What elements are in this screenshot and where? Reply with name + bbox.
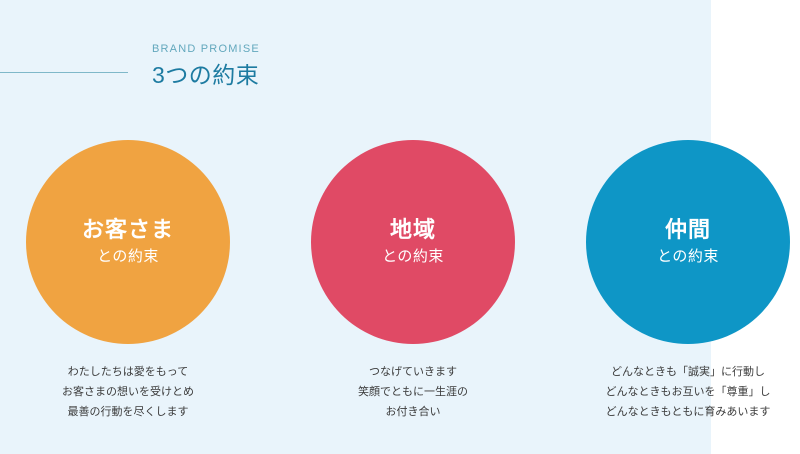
promise-subtitle: との約束 (382, 247, 444, 267)
promise-subtitle: との約束 (657, 247, 719, 267)
promise-subtitle: との約束 (97, 247, 159, 267)
header-rule (0, 72, 128, 73)
caption-line: どんなときも「誠実」に行動し (568, 362, 800, 382)
header-block: BRAND PROMISE 3つの約束 (152, 42, 572, 89)
promise-column-community: 地域 との約束 つなげていきます 笑顔でともに一生涯の お付き合い (293, 140, 533, 422)
promise-circle-colleagues: 仲間 との約束 (586, 140, 790, 344)
promise-caption-customer: わたしたちは愛をもって お客さまの想いを受けとめ 最善の行動を尽くします (8, 362, 248, 422)
caption-line: 最善の行動を尽くします (8, 402, 248, 422)
eyebrow-label: BRAND PROMISE (152, 42, 572, 56)
caption-line: どんなときもともに育みあいます (568, 402, 800, 422)
caption-line: お付き合い (293, 402, 533, 422)
promise-column-customer: お客さま との約束 わたしたちは愛をもって お客さまの想いを受けとめ 最善の行動… (8, 140, 248, 422)
caption-line: わたしたちは愛をもって (8, 362, 248, 382)
caption-line: どんなときもお互いを「尊重」し (568, 382, 800, 402)
promise-circle-community: 地域 との約束 (311, 140, 515, 344)
slide-canvas: BRAND PROMISE 3つの約束 お客さま との約束 わたしたちは愛をもっ… (0, 0, 800, 454)
caption-line: お客さまの想いを受けとめ (8, 382, 248, 402)
caption-line: 笑顔でともに一生涯の (293, 382, 533, 402)
promise-caption-community: つなげていきます 笑顔でともに一生涯の お付き合い (293, 362, 533, 422)
promise-circle-customer: お客さま との約束 (26, 140, 230, 344)
promise-column-colleagues: 仲間 との約束 どんなときも「誠実」に行動し どんなときもお互いを「尊重」し ど… (568, 140, 800, 422)
promise-caption-colleagues: どんなときも「誠実」に行動し どんなときもお互いを「尊重」し どんなときもともに… (568, 362, 800, 422)
promise-title: 仲間 (665, 217, 711, 243)
page-title: 3つの約束 (152, 61, 572, 89)
caption-line: つなげていきます (293, 362, 533, 382)
promise-title: お客さま (82, 217, 174, 243)
promise-title: 地域 (390, 217, 436, 243)
